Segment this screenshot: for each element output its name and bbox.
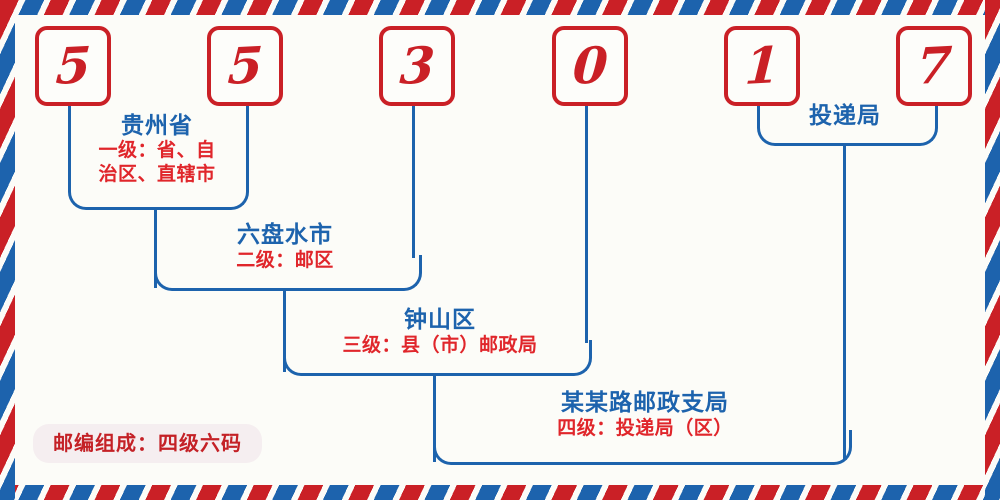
level-1-subtitle-line-1: 一级：省、自 <box>62 139 252 163</box>
digit-box-4[interactable]: 0 <box>552 26 628 106</box>
digit-glyph-2: 5 <box>226 40 264 92</box>
delivery-office-title: 投递局 <box>745 103 945 129</box>
level-4-subtitle: 四级：投递局（区） <box>525 416 765 441</box>
digit-glyph-5: 1 <box>743 40 781 92</box>
level-1-subtitle-line-2: 治区、直辖市 <box>62 163 252 187</box>
airmail-border-left <box>0 0 15 500</box>
digit-glyph-3: 3 <box>398 40 436 92</box>
connector-digit-3-drop <box>412 98 415 258</box>
airmail-border-right <box>985 0 1000 500</box>
connector-digit-4-drop <box>585 98 588 343</box>
postal-code-diagram: 5 5 3 0 1 7 投递局 贵州省 一级：省、自 治区、直辖市 六盘水市 二… <box>0 0 1000 500</box>
digit-glyph-1: 5 <box>54 40 92 92</box>
digit-glyph-4: 0 <box>571 40 609 92</box>
level-3-title: 钟山区 <box>305 307 575 333</box>
caption-chip: 邮编组成：四级六码 <box>33 424 262 463</box>
level-4-label: 某某路邮政支局 四级：投递局（区） <box>525 390 765 441</box>
digit-box-1[interactable]: 5 <box>35 26 111 106</box>
digit-box-5[interactable]: 1 <box>724 26 800 106</box>
level-1-title: 贵州省 <box>62 113 252 139</box>
level-4-title: 某某路邮政支局 <box>525 390 765 416</box>
level-3-subtitle: 三级：县（市）邮政局 <box>305 333 575 358</box>
airmail-border-top <box>0 0 1000 15</box>
level-2-label: 六盘水市 二级：邮区 <box>185 222 385 273</box>
digit-glyph-6: 7 <box>915 40 953 92</box>
level-1-label: 贵州省 一级：省、自 治区、直辖市 <box>62 113 252 187</box>
level-3-label: 钟山区 三级：县（市）邮政局 <box>305 307 575 358</box>
delivery-office-label: 投递局 <box>745 103 945 129</box>
level-2-title: 六盘水市 <box>185 222 385 248</box>
digit-box-3[interactable]: 3 <box>379 26 455 106</box>
connector-delivery-office-stem <box>843 143 846 460</box>
airmail-border-bottom <box>0 485 1000 500</box>
level-2-subtitle: 二级：邮区 <box>185 248 385 273</box>
caption-text: 邮编组成：四级六码 <box>53 433 242 453</box>
digit-box-6[interactable]: 7 <box>896 26 972 106</box>
digit-box-2[interactable]: 5 <box>207 26 283 106</box>
